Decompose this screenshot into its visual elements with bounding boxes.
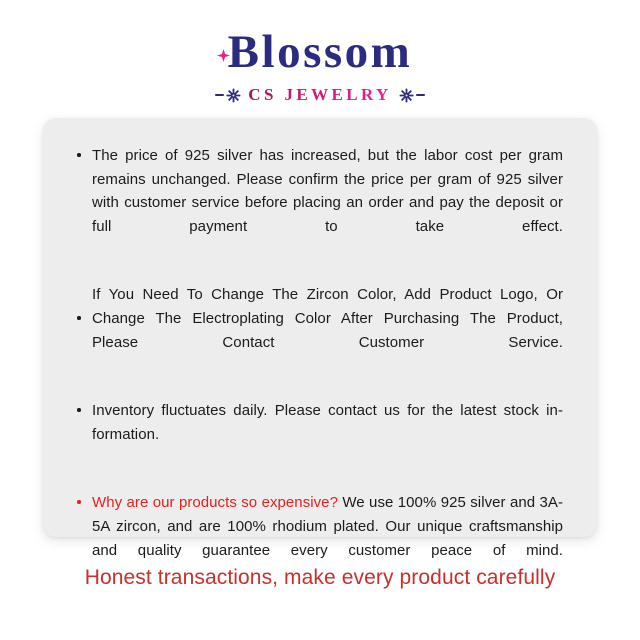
- notice-item-price: The price of 925 silver has increased, b…: [76, 144, 563, 262]
- brand-title-text: Blossom: [228, 26, 413, 78]
- notice-item-inventory: Inventory fluctuates daily. Please conta…: [76, 399, 563, 470]
- bullet-icon: [77, 408, 81, 412]
- brand-subtitle-text: CS JEWELRY: [248, 85, 391, 105]
- notice-text: Inventory fluctuates daily. Please conta…: [92, 402, 563, 443]
- notice-page: Blossom CS JEWELRY: [0, 0, 640, 640]
- notice-text: If You Need To Change The Zircon Color, …: [92, 286, 563, 350]
- bullet-icon: [77, 153, 81, 157]
- notice-item-customization: If You Need To Change The Zircon Color, …: [76, 283, 563, 378]
- snowflake-ornament-icon-right: [399, 88, 425, 103]
- snowflake-ornament-icon-left: [215, 88, 241, 103]
- notice-highlight-question: Why are our products so expensive?: [92, 494, 338, 511]
- brand-header: Blossom CS JEWELRY: [0, 0, 640, 105]
- notice-card: The price of 925 silver has increased, b…: [43, 118, 597, 537]
- bullet-icon: [77, 316, 81, 320]
- ornament-dash-left: [215, 94, 224, 96]
- brand-title-row: Blossom: [0, 28, 640, 76]
- notice-list: The price of 925 silver has increased, b…: [76, 144, 563, 586]
- footer-tagline: Honest transactions, make every product …: [0, 566, 640, 590]
- notice-text: The price of 925 silver has increased, b…: [92, 147, 563, 235]
- ornament-dash-right: [416, 94, 425, 96]
- brand-subtitle-row: CS JEWELRY: [0, 85, 640, 105]
- bullet-icon: [77, 500, 81, 504]
- diamond-sparkle-icon: [217, 49, 230, 62]
- brand-title-wrap: Blossom: [228, 29, 413, 76]
